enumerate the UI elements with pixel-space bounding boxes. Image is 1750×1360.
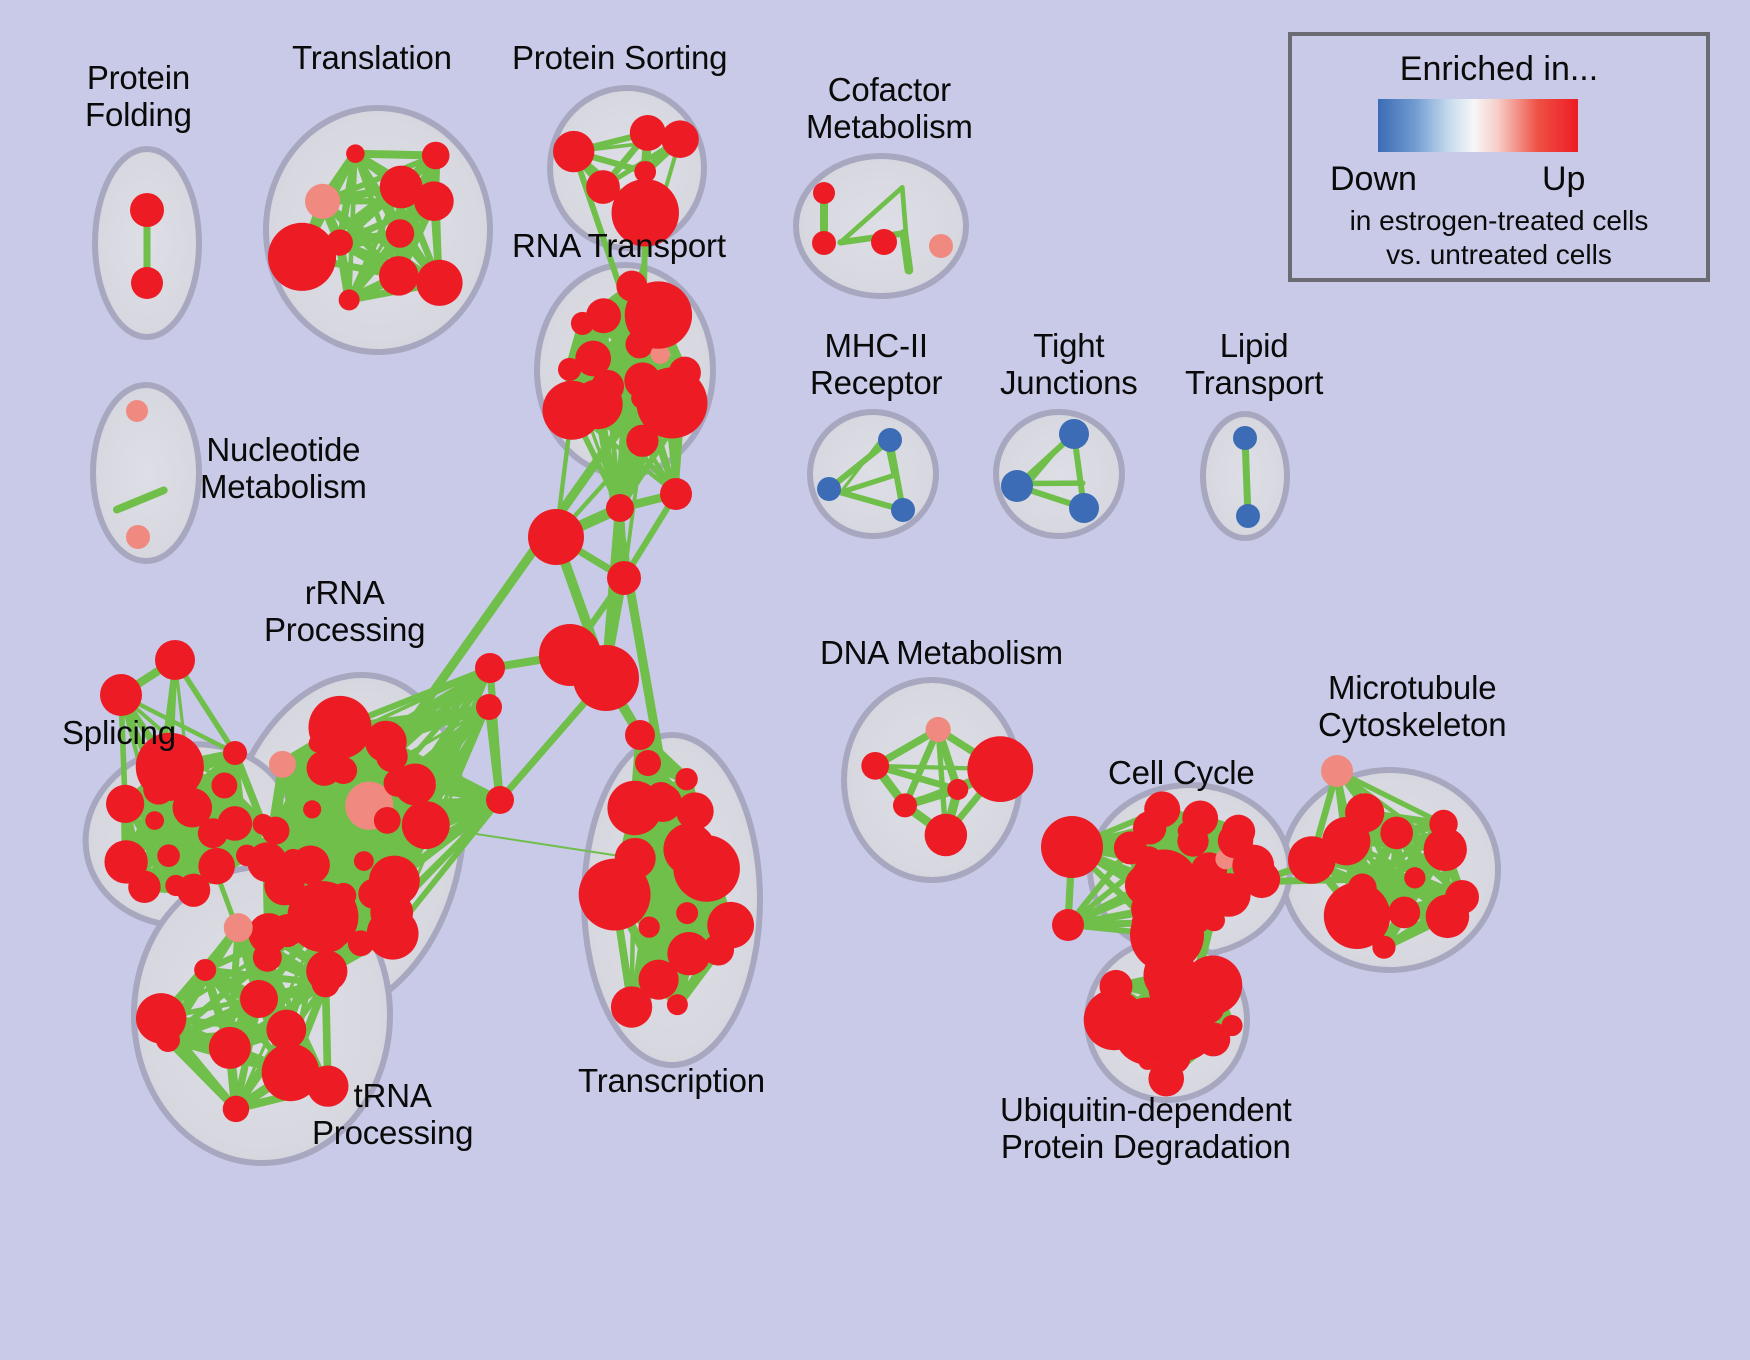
network-node[interactable]	[967, 736, 1033, 802]
network-node[interactable]	[1221, 1015, 1242, 1036]
network-node[interactable]	[1203, 910, 1225, 932]
network-node[interactable]	[1041, 816, 1103, 878]
network-node[interactable]	[128, 871, 160, 903]
network-node[interactable]	[1321, 755, 1353, 787]
network-node[interactable]	[607, 561, 641, 595]
network-node[interactable]	[553, 131, 594, 172]
network-node[interactable]	[1429, 810, 1457, 838]
network-node[interactable]	[675, 768, 697, 790]
network-node[interactable]	[893, 793, 917, 817]
legend-color-gradient-bar	[1378, 99, 1578, 152]
network-node[interactable]	[106, 785, 144, 823]
network-node[interactable]	[1404, 867, 1425, 888]
network-node[interactable]	[287, 881, 358, 952]
network-node[interactable]	[612, 179, 679, 246]
network-node[interactable]	[947, 779, 968, 800]
network-node[interactable]	[126, 525, 150, 549]
network-node[interactable]	[669, 357, 701, 389]
network-node[interactable]	[1144, 791, 1180, 827]
legend-panel: Enriched in... Down Up in estrogen-treat…	[1288, 32, 1710, 282]
network-node[interactable]	[662, 412, 687, 437]
network-node[interactable]	[240, 980, 278, 1018]
network-node[interactable]	[130, 193, 164, 227]
network-node[interactable]	[891, 498, 915, 522]
network-node[interactable]	[155, 640, 195, 680]
network-node[interactable]	[386, 219, 415, 248]
network-node[interactable]	[268, 223, 336, 291]
network-node[interactable]	[707, 902, 754, 949]
network-node[interactable]	[1182, 800, 1218, 836]
network-node[interactable]	[346, 144, 365, 163]
network-node[interactable]	[374, 807, 401, 834]
network-node[interactable]	[223, 741, 247, 765]
network-node[interactable]	[1236, 504, 1260, 528]
network-node[interactable]	[878, 428, 902, 452]
network-node[interactable]	[224, 913, 253, 942]
network-node[interactable]	[1380, 817, 1413, 850]
network-node[interactable]	[1233, 426, 1257, 450]
network-node[interactable]	[100, 674, 142, 716]
network-node[interactable]	[475, 653, 505, 683]
network-node[interactable]	[253, 814, 274, 835]
network-node[interactable]	[157, 844, 180, 867]
network-node[interactable]	[177, 874, 210, 907]
network-node[interactable]	[812, 231, 836, 255]
network-node[interactable]	[1069, 493, 1099, 523]
network-node[interactable]	[1288, 836, 1336, 884]
network-node[interactable]	[305, 184, 340, 219]
network-node[interactable]	[422, 142, 450, 170]
network-node[interactable]	[218, 806, 253, 841]
network-node[interactable]	[661, 120, 699, 158]
network-node[interactable]	[339, 289, 360, 310]
network-node[interactable]	[209, 1027, 251, 1069]
network-node[interactable]	[871, 229, 897, 255]
network-node[interactable]	[579, 859, 651, 931]
legend-sublabel: in estrogen-treated cells vs. untreated …	[1292, 204, 1706, 271]
network-node[interactable]	[616, 271, 647, 302]
network-node[interactable]	[1388, 897, 1420, 929]
network-node[interactable]	[308, 696, 371, 759]
network-node[interactable]	[414, 181, 454, 221]
network-node[interactable]	[236, 845, 258, 867]
network-node[interactable]	[476, 694, 502, 720]
network-node[interactable]	[929, 234, 953, 258]
network-node[interactable]	[312, 969, 340, 997]
network-node[interactable]	[394, 763, 436, 805]
network-node[interactable]	[1100, 970, 1133, 1003]
network-node[interactable]	[660, 478, 692, 510]
network-node[interactable]	[126, 400, 148, 422]
network-node[interactable]	[630, 115, 666, 151]
network-node[interactable]	[367, 908, 419, 960]
network-node[interactable]	[571, 312, 594, 335]
network-node[interactable]	[1148, 1061, 1184, 1097]
network-node[interactable]	[676, 792, 714, 830]
network-node[interactable]	[1052, 909, 1084, 941]
network-node[interactable]	[145, 811, 164, 830]
cluster-ellipse-mhc-ii-receptor	[810, 412, 936, 536]
network-node[interactable]	[542, 381, 601, 440]
network-node[interactable]	[528, 509, 584, 565]
network-node[interactable]	[611, 986, 652, 1027]
edge	[489, 707, 500, 800]
network-node[interactable]	[354, 851, 374, 871]
network-node[interactable]	[676, 902, 698, 924]
network-node[interactable]	[1345, 793, 1384, 832]
network-node[interactable]	[925, 717, 950, 742]
network-node[interactable]	[817, 477, 841, 501]
network-node[interactable]	[211, 773, 237, 799]
node-layer	[100, 115, 1479, 1122]
network-node[interactable]	[813, 182, 835, 204]
network-node[interactable]	[486, 786, 514, 814]
network-node[interactable]	[626, 425, 658, 457]
legend-title: Enriched in...	[1292, 50, 1706, 89]
network-node[interactable]	[1183, 955, 1242, 1014]
network-node[interactable]	[223, 1096, 249, 1122]
network-node[interactable]	[673, 835, 740, 902]
network-node[interactable]	[156, 1028, 180, 1052]
network-node[interactable]	[1222, 815, 1255, 848]
network-node[interactable]	[625, 720, 655, 750]
network-node[interactable]	[1445, 880, 1479, 914]
network-node[interactable]	[253, 943, 282, 972]
network-node[interactable]	[861, 752, 889, 780]
network-node[interactable]	[269, 751, 296, 778]
network-node[interactable]	[1114, 831, 1147, 864]
network-node[interactable]	[1001, 470, 1033, 502]
network-node[interactable]	[194, 959, 216, 981]
network-node[interactable]	[646, 782, 676, 812]
network-node[interactable]	[667, 994, 688, 1015]
network-node[interactable]	[638, 916, 659, 937]
network-node[interactable]	[635, 750, 661, 776]
network-node[interactable]	[303, 800, 321, 818]
network-node[interactable]	[558, 358, 581, 381]
network-node[interactable]	[416, 260, 462, 306]
network-node[interactable]	[402, 801, 450, 849]
network-node[interactable]	[307, 1065, 348, 1106]
legend-down-label: Down	[1330, 160, 1417, 199]
network-node[interactable]	[1130, 898, 1204, 972]
network-node[interactable]	[925, 814, 968, 857]
enrichment-map-figure: Protein FoldingTranslationProtein Sortin…	[0, 0, 1750, 1360]
network-node[interactable]	[1243, 861, 1280, 898]
network-node[interactable]	[573, 645, 639, 711]
legend-up-label: Up	[1542, 160, 1585, 199]
network-node[interactable]	[266, 1010, 306, 1050]
network-node[interactable]	[379, 256, 418, 295]
network-node[interactable]	[136, 733, 204, 801]
network-node[interactable]	[131, 267, 163, 299]
network-node[interactable]	[1372, 936, 1395, 959]
network-node[interactable]	[606, 494, 634, 522]
network-node[interactable]	[1059, 419, 1089, 449]
